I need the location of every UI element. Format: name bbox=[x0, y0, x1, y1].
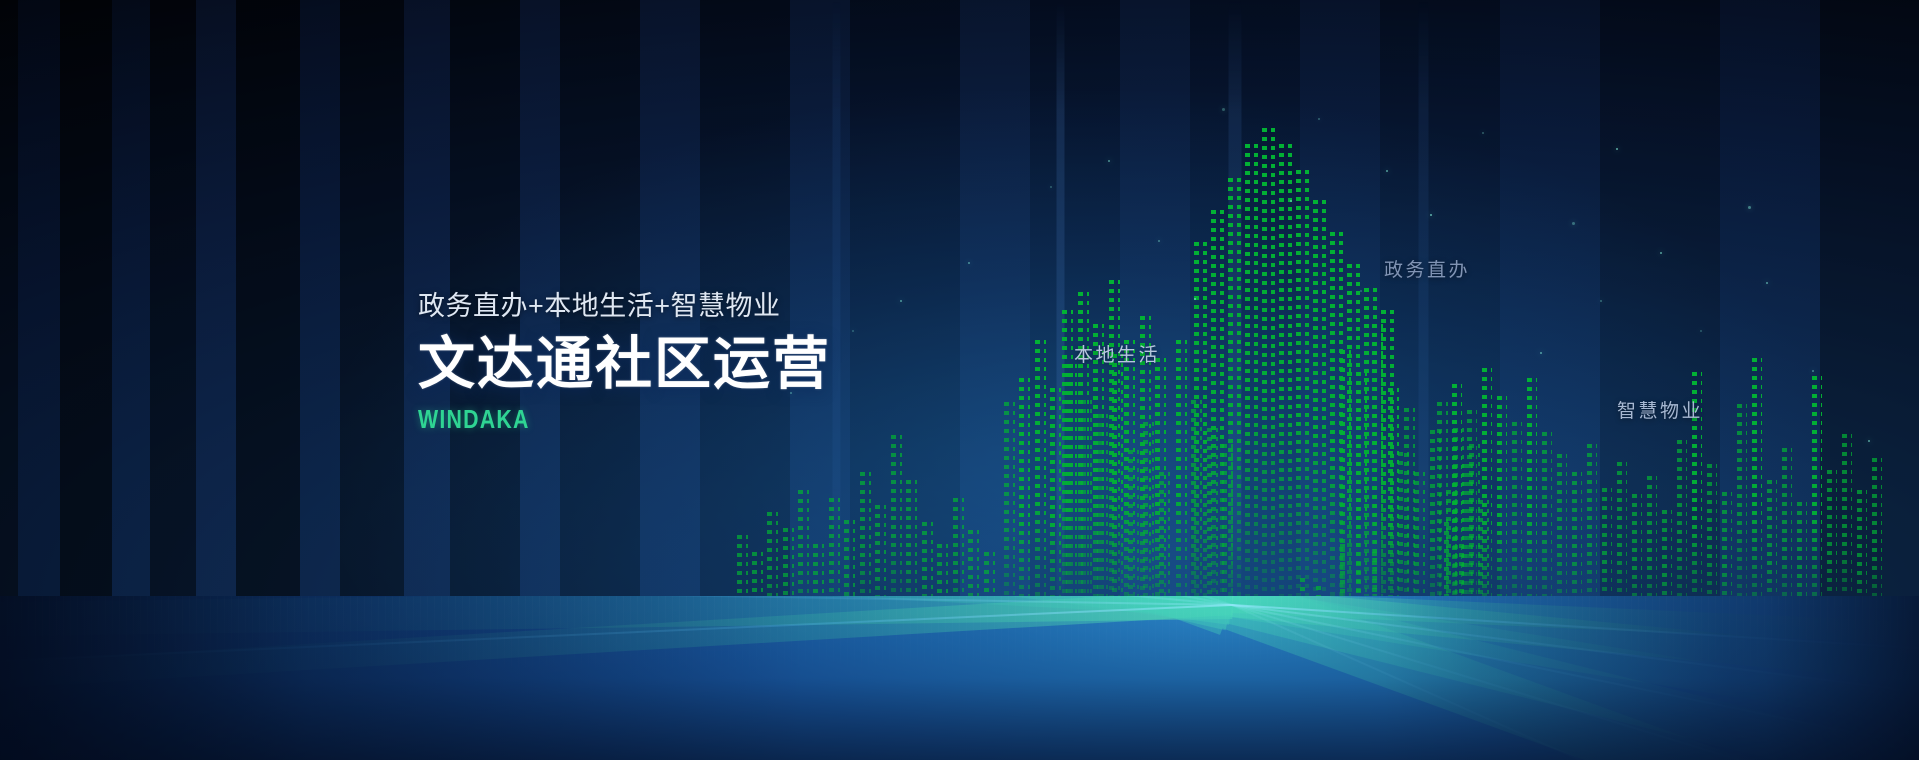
skyline-bar bbox=[1194, 242, 1207, 640]
page-title: 文达通社区运营 bbox=[418, 333, 831, 396]
skyline-bar bbox=[1313, 200, 1326, 640]
skyline-label-smart-property: 智慧物业 bbox=[1617, 396, 1703, 423]
skyline-bar bbox=[1093, 324, 1104, 640]
dot-matrix-skyline-chart bbox=[0, 0, 1919, 640]
skyline-bar bbox=[1124, 340, 1135, 640]
headline-block: 政务直办+本地生活+智慧物业 文达通社区运营 WINDAKA bbox=[418, 290, 831, 435]
skyline-label-government-services: 政务直办 bbox=[1384, 255, 1470, 282]
skyline-bar bbox=[1211, 210, 1224, 640]
skyline-bar bbox=[1296, 170, 1309, 640]
skyline-bar bbox=[1176, 340, 1187, 640]
skyline-bar bbox=[1035, 340, 1046, 640]
perspective-floor bbox=[0, 596, 1919, 760]
community-operations-banner: 政务直办 本地生活 智慧物业 政务直办+本地生活+智慧物业 文达通社区运营 WI… bbox=[0, 0, 1919, 760]
skyline-bar bbox=[1279, 144, 1292, 640]
brand-wordmark: WINDAKA bbox=[418, 404, 757, 435]
skyline-bar bbox=[1228, 178, 1241, 640]
skyline-bar bbox=[1062, 310, 1073, 640]
banner-subtitle: 政务直办+本地生活+智慧物业 bbox=[418, 290, 831, 322]
skyline-bar bbox=[1109, 280, 1120, 640]
skyline-bar bbox=[1245, 144, 1258, 640]
skyline-label-local-life: 本地生活 bbox=[1074, 340, 1160, 367]
floor-scanlines bbox=[0, 596, 1919, 760]
skyline-bar bbox=[1262, 128, 1275, 640]
